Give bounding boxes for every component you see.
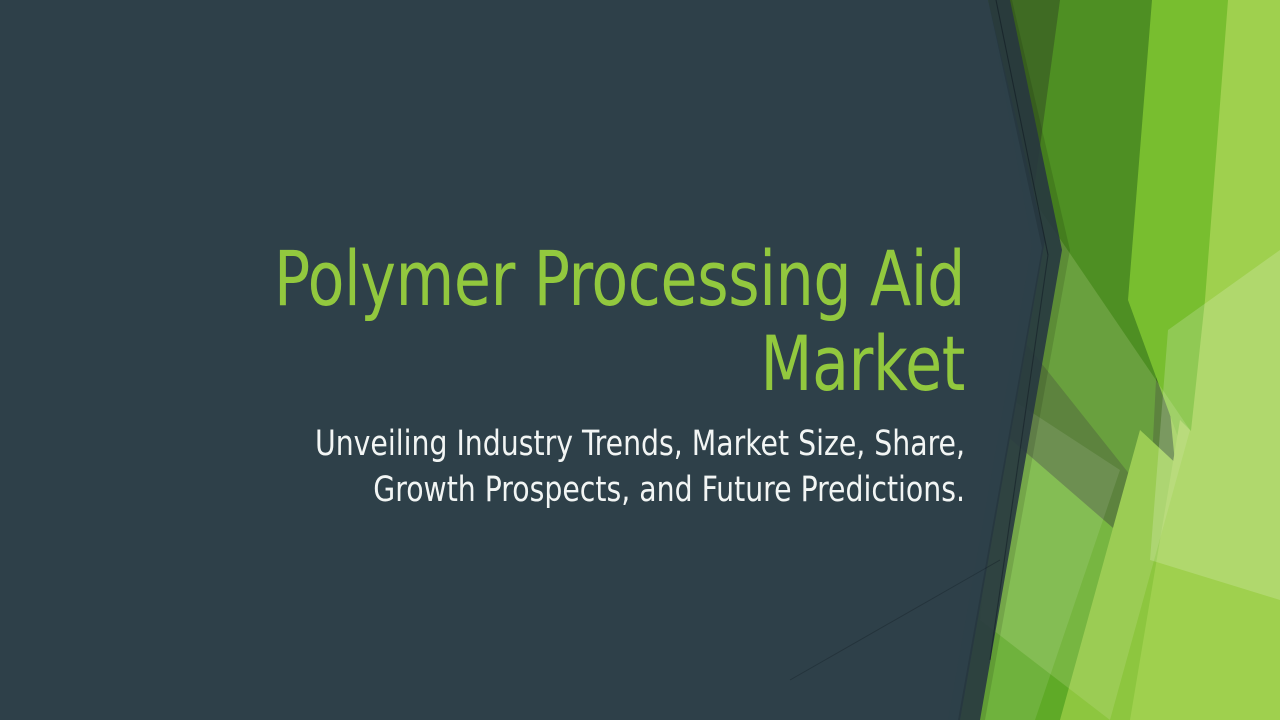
title-text-block: Polymer Processing Aid Market Unveiling … [120, 236, 965, 513]
presentation-slide: Polymer Processing Aid Market Unveiling … [0, 0, 1280, 720]
page-title: Polymer Processing Aid Market [221, 236, 965, 406]
slide-subtitle: Unveiling Industry Trends, Market Size, … [205, 422, 966, 513]
